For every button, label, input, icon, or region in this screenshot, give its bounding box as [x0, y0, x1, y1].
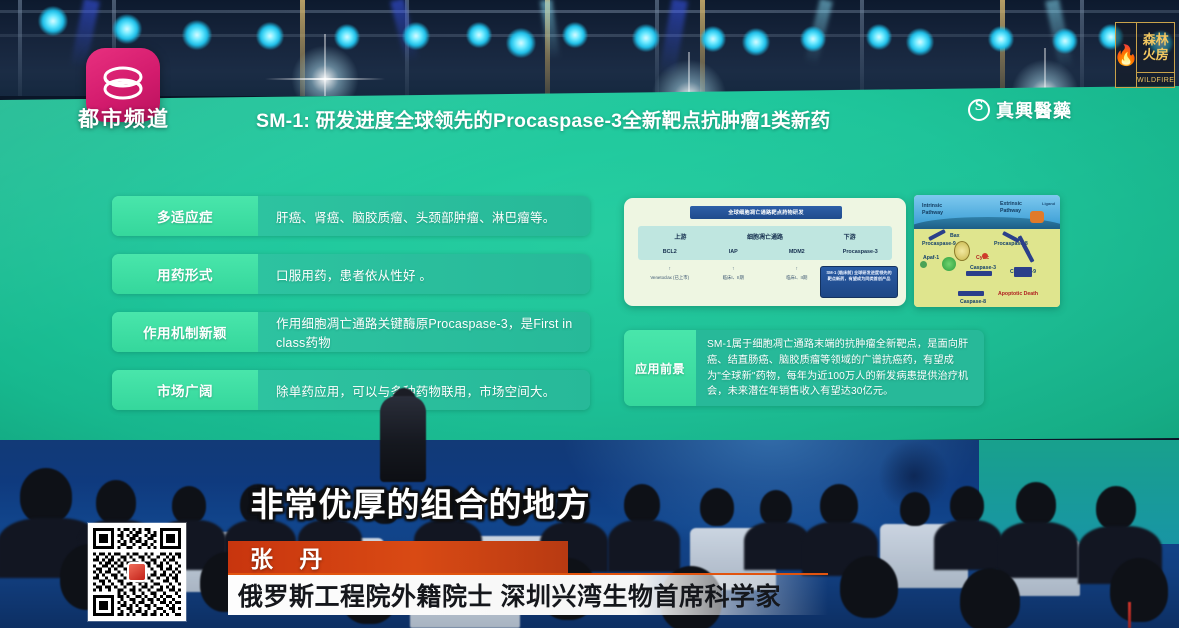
- pathway-node-caspase8: Caspase-8: [960, 299, 986, 306]
- pathway-target-figure: 全球细胞凋亡通路靶点药物研发 上游 细胞凋亡通路 下游 BCL2 IAP MDM…: [624, 198, 906, 306]
- prospect-text: SM-1属于细胞凋亡通路末端的抗肿瘤全新靶点，是面向肝癌、结直肠癌、脑胶质瘤等领…: [696, 330, 984, 406]
- channel-name: 都市频道: [78, 103, 183, 133]
- speaker-name: 张 丹: [250, 540, 332, 574]
- broadcast-frame: 都市频道 🔥 森林火房 WILDFIRE SM-1: 研发进度全球领先的Proc…: [0, 0, 1179, 628]
- column-tick: ↑: [638, 266, 702, 272]
- figure-band: 上游 细胞凋亡通路 下游 BCL2 IAP MDM2 Procaspase-3: [638, 226, 892, 260]
- pathway-label-ligand: Ligand: [1042, 201, 1055, 206]
- pathway-node-procaspase9: Procaspase-9: [922, 241, 956, 248]
- apoptosis-pathway-image: Intrinsic Pathway Extrinsic Pathway Liga…: [914, 195, 1060, 307]
- pathway-label-intrinsic: Intrinsic Pathway: [922, 203, 962, 216]
- brand-s-icon: [968, 99, 990, 121]
- feature-row: 用药形式 口服用药，患者依从性好 。: [112, 254, 590, 294]
- lower-third: 张 丹 俄罗斯工程院外籍院士 深圳兴湾生物首席科学家: [228, 541, 828, 615]
- figure-column: ↑ Venetoclax (已上市): [638, 262, 702, 302]
- pathway-label-apoptotic-death: Apoptotic Death: [998, 291, 1038, 298]
- band-header: 细胞凋亡通路: [723, 232, 808, 241]
- qr-center-logo: [127, 562, 147, 582]
- pathway-node-bax: Bax: [950, 233, 960, 240]
- feature-desc: 肝癌、肾癌、脑胶质瘤、头颈部肿瘤、淋巴瘤等。: [258, 207, 590, 226]
- brand-name: 真興醫藥: [996, 97, 1072, 123]
- band-target: IAP: [702, 249, 766, 255]
- flame-icon: 🔥: [1116, 23, 1136, 87]
- feature-desc: 作用细胞凋亡通路关键酶原Procaspase-3，是First in class…: [258, 313, 590, 351]
- feature-desc: 口服用药，患者依从性好 。: [258, 265, 590, 284]
- feature-tag: 作用机制新颖: [112, 312, 258, 352]
- column-sub: 临床I、II期: [765, 275, 829, 281]
- figure-column: ↑ 临床I、II期: [765, 262, 829, 302]
- watermark-en-label: WILDFIRE: [1137, 72, 1174, 87]
- column-tick: ↑: [702, 266, 766, 272]
- band-target: Procaspase-3: [829, 249, 893, 255]
- speaker-name-banner: 张 丹: [228, 541, 568, 573]
- feature-tag: 市场广阔: [112, 370, 258, 410]
- figure-column: ↑ 临床I、II期: [702, 262, 766, 302]
- qr-code[interactable]: [88, 523, 186, 621]
- figure-callout: SM-1 (临床前) 全球研发进度领先的靶点新药，有望成为同类首创产品: [820, 266, 898, 298]
- band-target: MDM2: [765, 249, 829, 255]
- wildfire-watermark: 🔥 森林火房 WILDFIRE: [1115, 22, 1175, 88]
- watermark-cn-label: 森林火房: [1137, 23, 1174, 72]
- stage-lighting-truss: [0, 0, 1179, 96]
- band-header: 上游: [638, 232, 723, 241]
- pathway-node-apaf1: Apaf-1: [923, 255, 939, 262]
- speaker-title-banner: 俄罗斯工程院外籍院士 深圳兴湾生物首席科学家: [228, 573, 828, 615]
- band-target: BCL2: [638, 249, 702, 255]
- column-sub: 临床I、II期: [702, 275, 766, 281]
- speaker-silhouette: [380, 396, 426, 482]
- feature-row: 市场广阔 除单药应用，可以与多种药物联用，市场空间大。: [112, 370, 590, 410]
- column-tick: ↑: [765, 266, 829, 272]
- feature-rows: 多适应症 肝癌、肾癌、脑胶质瘤、头颈部肿瘤、淋巴瘤等。 用药形式 口服用药，患者…: [112, 196, 590, 428]
- feature-row: 多适应症 肝癌、肾癌、脑胶质瘤、头颈部肿瘤、淋巴瘤等。: [112, 196, 590, 236]
- prospect-tag: 应用前景: [624, 330, 696, 406]
- band-header: 下游: [807, 232, 892, 241]
- column-sub: Venetoclax (已上市): [638, 275, 702, 281]
- application-prospect-block: 应用前景 SM-1属于细胞凋亡通路末端的抗肿瘤全新靶点，是面向肝癌、结直肠癌、脑…: [624, 330, 984, 406]
- speaker-title: 俄罗斯工程院外籍院士 深圳兴湾生物首席科学家: [238, 577, 781, 613]
- figure-title: 全球细胞凋亡通路靶点药物研发: [690, 206, 842, 219]
- sponsor-brand: 真興醫藥: [968, 97, 1072, 123]
- feature-tag: 多适应症: [112, 196, 258, 236]
- feature-row: 作用机制新颖 作用细胞凋亡通路关键酶原Procaspase-3，是First i…: [112, 312, 590, 352]
- slide-title: SM-1: 研发进度全球领先的Procaspase-3全新靶点抗肿瘤1类新药: [256, 104, 896, 133]
- feature-desc: 除单药应用，可以与多种药物联用，市场空间大。: [258, 381, 590, 400]
- feature-tag: 用药形式: [112, 254, 258, 294]
